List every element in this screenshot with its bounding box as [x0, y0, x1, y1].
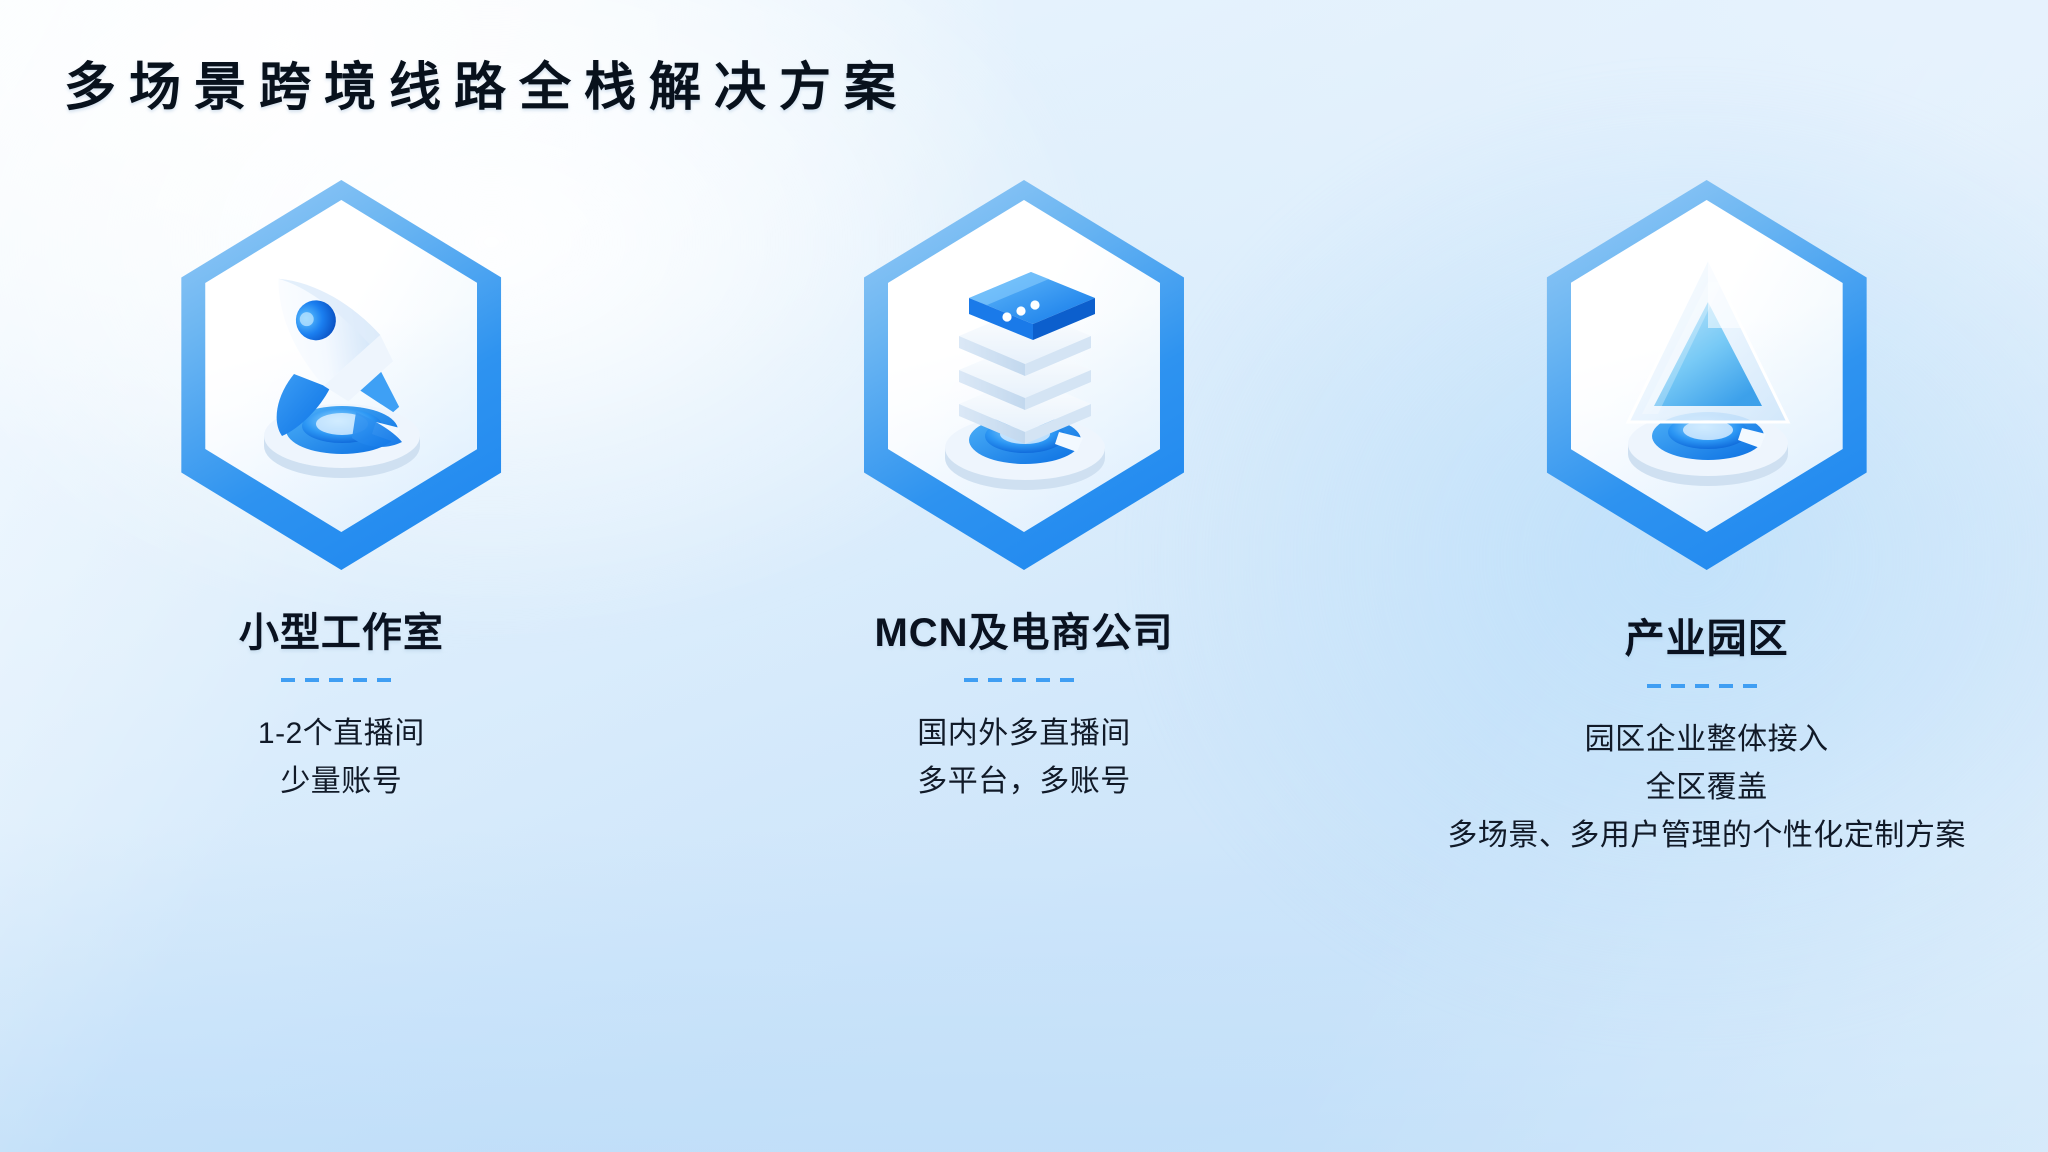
scenario-card-industrial-park[interactable]: 产业园区 园区企业整体接入 全区覆盖 多场景、多用户管理的个性化定制方案 [1427, 180, 1987, 860]
card-body-line: 1-2个直播间 [258, 710, 425, 758]
card-body-line: 国内外多直播间 [917, 710, 1131, 758]
triangle-prism-icon [1571, 200, 1843, 532]
card-body: 1-2个直播间 少量账号 [258, 710, 425, 806]
hexagon-badge [1527, 180, 1887, 580]
card-divider [1647, 684, 1767, 688]
card-title: 产业园区 [1625, 614, 1789, 664]
card-title: MCN及电商公司 [874, 608, 1173, 658]
hexagon-badge [844, 180, 1204, 580]
hexagon-badge [161, 180, 521, 580]
server-stack-icon [888, 200, 1160, 532]
card-body-line: 园区企业整体接入 [1447, 716, 1966, 764]
card-title: 小型工作室 [239, 608, 444, 658]
card-body-line: 少量账号 [258, 758, 425, 806]
card-body-line: 全区覆盖 [1447, 764, 1966, 812]
page-title: 多场景跨境线路全栈解决方案 [64, 57, 909, 119]
scenario-card-small-studio[interactable]: 小型工作室 1-2个直播间 少量账号 [61, 180, 621, 806]
rocket-icon [205, 200, 477, 532]
scenario-card-row: 小型工作室 1-2个直播间 少量账号 [0, 180, 2048, 860]
card-divider [964, 678, 1084, 682]
scenario-card-mcn-ecommerce[interactable]: MCN及电商公司 国内外多直播间 多平台，多账号 [744, 180, 1304, 806]
card-body: 国内外多直播间 多平台，多账号 [917, 710, 1131, 806]
card-body: 园区企业整体接入 全区覆盖 多场景、多用户管理的个性化定制方案 [1447, 716, 1966, 860]
card-body-line: 多场景、多用户管理的个性化定制方案 [1447, 812, 1966, 860]
card-divider [281, 678, 401, 682]
card-body-line: 多平台，多账号 [917, 758, 1131, 806]
